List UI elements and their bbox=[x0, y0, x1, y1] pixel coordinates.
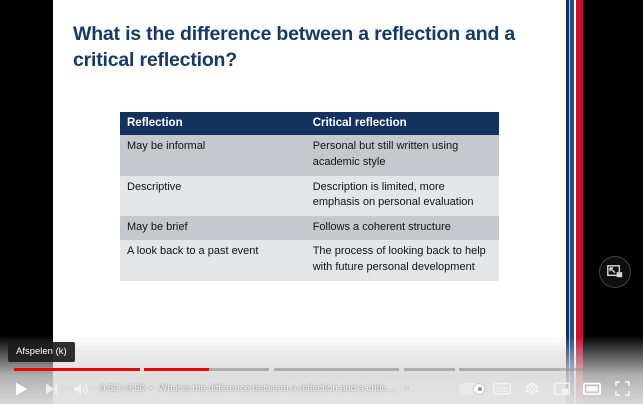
cell-reflection: May be brief bbox=[120, 216, 306, 241]
chapter-segment[interactable] bbox=[459, 368, 621, 371]
comparison-table: Reflection Critical reflection May be in… bbox=[120, 112, 499, 281]
settings-button[interactable] bbox=[517, 374, 547, 404]
video-title-text: What is the difference between a reflect… bbox=[158, 383, 398, 394]
cell-reflection: A look back to a past event bbox=[120, 240, 306, 280]
volume-button[interactable] bbox=[66, 374, 96, 404]
controls-right-group bbox=[457, 374, 643, 404]
cell-reflection: May be informal bbox=[120, 135, 306, 175]
slide-title: What is the difference between a reflect… bbox=[73, 22, 543, 73]
table-row: Descriptive Description is limited, more… bbox=[120, 176, 499, 216]
autoplay-toggle[interactable] bbox=[457, 374, 487, 404]
presentation-slide: What is the difference between a reflect… bbox=[53, 0, 583, 404]
fullscreen-button[interactable] bbox=[607, 374, 637, 404]
table-row: A look back to a past event The process … bbox=[120, 240, 499, 280]
chapter-segment[interactable] bbox=[14, 368, 139, 371]
time-display: 0:52 / 3:50 bbox=[100, 383, 145, 394]
cell-critical: The process of looking back to help with… bbox=[306, 240, 499, 280]
subtitles-button[interactable] bbox=[487, 374, 517, 404]
video-viewport[interactable]: What is the difference between a reflect… bbox=[0, 0, 643, 404]
time-and-title-group: 0:52 / 3:50 • What is the difference bet… bbox=[96, 383, 409, 394]
chapter-segment[interactable] bbox=[274, 368, 399, 371]
column-header-critical-reflection: Critical reflection bbox=[306, 112, 499, 135]
cell-reflection: Descriptive bbox=[120, 176, 306, 216]
play-button-tooltip: Afspelen (k) bbox=[8, 342, 75, 362]
chapter-segment[interactable] bbox=[404, 368, 455, 371]
player-control-bar: 0:52 / 3:50 • What is the difference bet… bbox=[0, 373, 643, 404]
chapter-segment[interactable] bbox=[144, 368, 269, 371]
cell-critical: Description is limited, more emphasis on… bbox=[306, 176, 499, 216]
autoplay-switch-icon[interactable] bbox=[459, 383, 485, 395]
play-button[interactable] bbox=[6, 374, 36, 404]
progress-bar[interactable] bbox=[0, 366, 643, 373]
youtube-video-player: What is the difference between a reflect… bbox=[0, 0, 643, 404]
expand-chevron-icon[interactable]: › bbox=[403, 383, 408, 394]
cell-critical: Personal but still written using academi… bbox=[306, 135, 499, 175]
controls-left-group: 0:52 / 3:50 • What is the difference bet… bbox=[0, 374, 409, 404]
table-header-row: Reflection Critical reflection bbox=[120, 112, 499, 135]
cell-critical: Follows a coherent structure bbox=[306, 216, 499, 241]
brand-stripe-red bbox=[576, 0, 583, 404]
column-header-reflection: Reflection bbox=[120, 112, 306, 135]
table-row: May be informal Personal but still writt… bbox=[120, 135, 499, 175]
theater-button[interactable] bbox=[577, 374, 607, 404]
separator-dot: • bbox=[150, 383, 153, 394]
next-video-button[interactable] bbox=[36, 374, 66, 404]
table-row: May be brief Follows a coherent structur… bbox=[120, 216, 499, 241]
miniplayer-overlay-button[interactable] bbox=[599, 256, 631, 288]
miniplayer-button[interactable] bbox=[547, 374, 577, 404]
